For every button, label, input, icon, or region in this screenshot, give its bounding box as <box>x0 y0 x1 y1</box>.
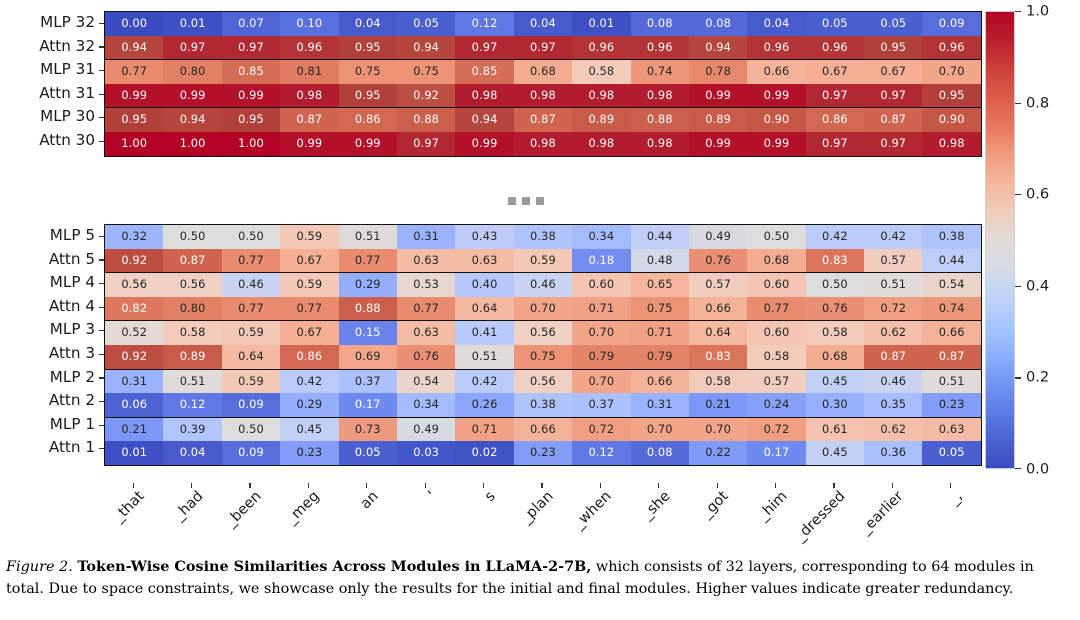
heatmap-cell: 0.97 <box>806 132 864 156</box>
heatmap-cell: 0.99 <box>747 132 805 156</box>
heatmap-cell: 0.59 <box>222 369 280 393</box>
heatmap-cell: 0.51 <box>339 225 397 249</box>
heatmap-cell: 0.50 <box>222 225 280 249</box>
x-axis-tick <box>425 483 426 488</box>
heatmap-cell: 0.48 <box>631 249 689 273</box>
x-axis-tick-label: _that <box>111 489 147 525</box>
y-axis-tick-label: Attn 30 <box>0 129 104 153</box>
caption-title: Token-Wise Cosine Similarities Across Mo… <box>77 558 591 575</box>
heatmap-cell: 0.09 <box>922 12 980 36</box>
heatmap-cell: 0.85 <box>455 60 513 84</box>
heatmap-cell: 0.03 <box>397 441 455 465</box>
y-axis-tick-label: Attn 3 <box>0 342 104 366</box>
heatmap-cell: 0.95 <box>105 108 163 132</box>
heatmap-cell: 0.95 <box>339 36 397 60</box>
heatmap-row: 0.310.510.590.420.370.540.420.560.700.66… <box>105 369 981 393</box>
heatmap-cell: 0.70 <box>922 60 980 84</box>
heatmap-cell: 0.66 <box>747 60 805 84</box>
x-axis-tick-label: _, <box>946 489 965 508</box>
heatmap-cell: 0.42 <box>455 369 513 393</box>
heatmap-cell: 0.34 <box>572 225 630 249</box>
colorbar-tick-label: 0.6 <box>1026 186 1049 203</box>
x-axis-tick <box>892 483 893 488</box>
y-axis-tick-label: MLP 1 <box>0 413 104 437</box>
heatmap-plot-area: MLP 32Attn 32MLP 31Attn 31MLP 30Attn 30 … <box>0 0 1080 545</box>
heatmap-cell: 0.99 <box>339 132 397 156</box>
x-axis-tick <box>308 483 309 488</box>
heatmap-cell: 0.78 <box>689 60 747 84</box>
heatmap-cell: 0.58 <box>572 60 630 84</box>
heatmap-cell: 0.57 <box>864 249 922 273</box>
heatmap-cell: 0.29 <box>280 393 338 417</box>
heatmap-cell: 0.23 <box>922 393 980 417</box>
y-axis-tick-label: Attn 1 <box>0 436 104 460</box>
heatmap-cell: 0.75 <box>397 60 455 84</box>
heatmap-cell: 0.70 <box>689 417 747 441</box>
heatmap-cell: 0.54 <box>922 273 980 297</box>
heatmap-cell: 0.35 <box>864 393 922 417</box>
heatmap-cell: 0.04 <box>514 12 572 36</box>
heatmap-panel-initial-modules: 0.320.500.500.590.510.310.430.380.340.44… <box>104 224 982 466</box>
heatmap-row: 0.940.970.970.960.950.940.970.970.960.96… <box>105 36 981 60</box>
heatmap-cell: 0.99 <box>689 132 747 156</box>
heatmap-cell: 0.09 <box>222 393 280 417</box>
heatmap-table: 0.000.010.070.100.040.050.120.040.010.08… <box>105 12 981 156</box>
heatmap-cell: 0.98 <box>280 84 338 108</box>
heatmap-cell: 0.49 <box>689 225 747 249</box>
heatmap-cell: 0.51 <box>163 369 221 393</box>
x-axis-tick-label: _earlier <box>859 489 907 537</box>
x-axis-tick-label: _she <box>640 489 673 522</box>
caption-figure-number: Figure 2. <box>6 559 73 575</box>
heatmap-row: 1.001.001.000.990.990.970.990.980.980.98… <box>105 132 981 156</box>
y-axis-tick-label: MLP 30 <box>0 105 104 129</box>
heatmap-cell: 0.64 <box>689 321 747 345</box>
heatmap-cell: 0.99 <box>163 84 221 108</box>
x-axis-tick <box>541 483 542 488</box>
heatmap-cell: 0.77 <box>105 60 163 84</box>
heatmap-cell: 0.36 <box>864 441 922 465</box>
heatmap-cell: 0.29 <box>339 273 397 297</box>
y-axis-tick-label: Attn 31 <box>0 82 104 106</box>
heatmap-cell: 0.12 <box>455 12 513 36</box>
colorbar-tick <box>1015 377 1021 378</box>
y-axis-tick-label: Attn 4 <box>0 295 104 319</box>
x-axis-tick-label: _him <box>755 489 789 523</box>
heatmap-cell: 0.63 <box>455 249 513 273</box>
heatmap-row: 0.920.890.640.860.690.760.510.750.790.79… <box>105 345 981 369</box>
heatmap-cell: 0.72 <box>747 417 805 441</box>
heatmap-cell: 0.22 <box>689 441 747 465</box>
heatmap-cell: 0.64 <box>222 345 280 369</box>
heatmap-cell: 0.97 <box>455 36 513 60</box>
heatmap-cell: 0.67 <box>864 60 922 84</box>
heatmap-cell: 0.97 <box>806 84 864 108</box>
heatmap-cell: 0.07 <box>222 12 280 36</box>
heatmap-cell: 0.97 <box>514 36 572 60</box>
heatmap-cell: 0.83 <box>689 345 747 369</box>
heatmap-row: 0.990.990.990.980.950.920.980.980.980.98… <box>105 84 981 108</box>
heatmap-cell: 0.95 <box>922 84 980 108</box>
heatmap-cell: 0.32 <box>105 225 163 249</box>
heatmap-cell: 0.21 <box>689 393 747 417</box>
heatmap-cell: 0.68 <box>514 60 572 84</box>
y-axis-tick-label: Attn 5 <box>0 248 104 272</box>
heatmap-cell: 0.98 <box>514 84 572 108</box>
heatmap-cell: 0.98 <box>631 84 689 108</box>
figure-caption: Figure 2. Token-Wise Cosine Similarities… <box>6 556 1074 601</box>
heatmap-cell: 0.59 <box>280 273 338 297</box>
heatmap-cell: 0.71 <box>455 417 513 441</box>
heatmap-cell: 0.97 <box>397 132 455 156</box>
heatmap-cell: 0.77 <box>280 297 338 321</box>
heatmap-cell: 0.01 <box>572 12 630 36</box>
heatmap-cell: 0.53 <box>397 273 455 297</box>
heatmap-cell: 0.05 <box>922 441 980 465</box>
x-axis-tick-label: ' <box>426 489 439 502</box>
heatmap-cell: 0.51 <box>922 369 980 393</box>
heatmap-cell: 0.96 <box>572 36 630 60</box>
heatmap-cell: 0.71 <box>631 321 689 345</box>
heatmap-cell: 0.97 <box>163 36 221 60</box>
x-axis-tick <box>717 483 718 488</box>
heatmap-row: 0.770.800.850.810.750.750.850.680.580.74… <box>105 60 981 84</box>
heatmap-cell: 0.94 <box>455 108 513 132</box>
heatmap-cell: 1.00 <box>163 132 221 156</box>
heatmap-cell: 0.67 <box>280 249 338 273</box>
heatmap-cell: 0.21 <box>105 417 163 441</box>
heatmap-cell: 0.05 <box>806 12 864 36</box>
colorbar-tick-label: 1.0 <box>1026 3 1049 20</box>
heatmap-cell: 0.70 <box>572 321 630 345</box>
heatmap-cell: 0.95 <box>339 84 397 108</box>
heatmap-cell: 0.40 <box>455 273 513 297</box>
heatmap-cell: 0.50 <box>747 225 805 249</box>
heatmap-cell: 0.17 <box>339 393 397 417</box>
heatmap-cell: 0.96 <box>280 36 338 60</box>
heatmap-cell: 0.57 <box>747 369 805 393</box>
heatmap-cell: 0.05 <box>397 12 455 36</box>
heatmap-row: 0.000.010.070.100.040.050.120.040.010.08… <box>105 12 981 36</box>
heatmap-cell: 0.71 <box>572 297 630 321</box>
heatmap-cell: 0.90 <box>747 108 805 132</box>
x-axis-tick-label: _plan <box>519 489 556 526</box>
heatmap-cell: 0.75 <box>339 60 397 84</box>
heatmap-cell: 0.82 <box>105 297 163 321</box>
heatmap-cell: 0.05 <box>339 441 397 465</box>
heatmap-cell: 0.56 <box>163 273 221 297</box>
heatmap-cell: 0.74 <box>631 60 689 84</box>
heatmap-cell: 0.94 <box>163 108 221 132</box>
heatmap-cell: 0.73 <box>339 417 397 441</box>
heatmap-cell: 0.23 <box>514 441 572 465</box>
heatmap-cell: 0.67 <box>280 321 338 345</box>
heatmap-cell: 0.87 <box>922 345 980 369</box>
heatmap-cell: 1.00 <box>222 132 280 156</box>
heatmap-cell: 0.99 <box>747 84 805 108</box>
heatmap-cell: 0.45 <box>280 417 338 441</box>
heatmap-cell: 0.95 <box>222 108 280 132</box>
heatmap-row: 0.210.390.500.450.730.490.710.660.720.70… <box>105 417 981 441</box>
heatmap-cell: 0.38 <box>514 393 572 417</box>
heatmap-cell: 0.99 <box>280 132 338 156</box>
heatmap-cell: 0.83 <box>806 249 864 273</box>
heatmap-cell: 0.70 <box>514 297 572 321</box>
heatmap-cell: 0.94 <box>689 36 747 60</box>
heatmap-cell: 0.09 <box>222 441 280 465</box>
heatmap-cell: 0.30 <box>806 393 864 417</box>
heatmap-cell: 0.01 <box>105 441 163 465</box>
heatmap-cell: 0.70 <box>631 417 689 441</box>
heatmap-cell: 0.92 <box>397 84 455 108</box>
heatmap-cell: 0.74 <box>922 297 980 321</box>
heatmap-cell: 0.38 <box>922 225 980 249</box>
x-axis-tick <box>600 483 601 488</box>
heatmap-cell: 1.00 <box>105 132 163 156</box>
heatmap-row: 0.820.800.770.770.880.770.640.700.710.75… <box>105 297 981 321</box>
y-axis-tick-label: MLP 4 <box>0 271 104 295</box>
heatmap-cell: 0.88 <box>397 108 455 132</box>
colorbar-tick-label: 0.0 <box>1026 461 1049 478</box>
heatmap-cell: 0.86 <box>280 345 338 369</box>
heatmap-cell: 0.87 <box>864 345 922 369</box>
x-axis-tick-label: _got <box>699 489 731 521</box>
heatmap-cell: 0.65 <box>631 273 689 297</box>
heatmap-cell: 0.46 <box>864 369 922 393</box>
heatmap-cell: 0.88 <box>631 108 689 132</box>
heatmap-row: 0.920.870.770.670.770.630.630.590.180.48… <box>105 249 981 273</box>
heatmap-cell: 0.97 <box>864 84 922 108</box>
heatmap-row: 0.520.580.590.670.150.630.410.560.700.71… <box>105 321 981 345</box>
heatmap-cell: 0.89 <box>163 345 221 369</box>
heatmap-cell: 0.59 <box>280 225 338 249</box>
heatmap-cell: 0.37 <box>339 369 397 393</box>
heatmap-cell: 0.66 <box>514 417 572 441</box>
colorbar-tick <box>1015 286 1021 287</box>
bottom-panel-row-labels: MLP 5Attn 5MLP 4Attn 4MLP 3Attn 3MLP 2At… <box>0 224 104 460</box>
heatmap-cell: 0.77 <box>397 297 455 321</box>
heatmap-cell: 0.70 <box>572 369 630 393</box>
heatmap-cell: 0.58 <box>163 321 221 345</box>
heatmap-cell: 0.98 <box>514 132 572 156</box>
heatmap-cell: 0.42 <box>280 369 338 393</box>
heatmap-cell: 0.66 <box>631 369 689 393</box>
heatmap-cell: 0.85 <box>222 60 280 84</box>
heatmap-cell: 0.98 <box>922 132 980 156</box>
x-axis-tick <box>191 483 192 488</box>
heatmap-table: 0.320.500.500.590.510.310.430.380.340.44… <box>105 225 981 465</box>
colorbar: 0.00.20.40.60.81.0 <box>985 11 1080 469</box>
heatmap-cell: 0.34 <box>397 393 455 417</box>
heatmap-cell: 0.50 <box>806 273 864 297</box>
heatmap-cell: 0.96 <box>922 36 980 60</box>
x-axis-tick-label: _dressed <box>793 489 848 544</box>
heatmap-cell: 0.98 <box>572 132 630 156</box>
heatmap-cell: 0.96 <box>747 36 805 60</box>
ellipsis-dot <box>508 197 516 205</box>
figure-2-root: MLP 32Attn 32MLP 31Attn 31MLP 30Attn 30 … <box>0 0 1080 620</box>
heatmap-cell: 0.66 <box>922 321 980 345</box>
heatmap-cell: 0.77 <box>747 297 805 321</box>
y-axis-tick-label: Attn 32 <box>0 35 104 59</box>
colorbar-tick-label: 0.2 <box>1026 369 1049 386</box>
heatmap-cell: 0.94 <box>105 36 163 60</box>
heatmap-cell: 0.63 <box>397 249 455 273</box>
heatmap-cell: 0.50 <box>222 417 280 441</box>
heatmap-cell: 0.18 <box>572 249 630 273</box>
x-axis-tick-label: _meg <box>285 489 323 527</box>
y-axis-tick-label: MLP 2 <box>0 366 104 390</box>
heatmap-row: 0.010.040.090.230.050.030.020.230.120.08… <box>105 441 981 465</box>
heatmap-cell: 0.04 <box>163 441 221 465</box>
heatmap-cell: 0.06 <box>105 393 163 417</box>
heatmap-row: 0.950.940.950.870.860.880.940.870.890.88… <box>105 108 981 132</box>
top-panel-row-labels: MLP 32Attn 32MLP 31Attn 31MLP 30Attn 30 <box>0 11 104 153</box>
x-axis-tick-label: _when <box>572 489 615 532</box>
heatmap-cell: 0.92 <box>105 249 163 273</box>
colorbar-tick <box>1015 103 1021 104</box>
heatmap-cell: 0.58 <box>806 321 864 345</box>
heatmap-cell: 0.04 <box>339 12 397 36</box>
heatmap-cell: 0.72 <box>572 417 630 441</box>
heatmap-cell: 0.39 <box>163 417 221 441</box>
heatmap-row: 0.060.120.090.290.170.340.260.380.370.31… <box>105 393 981 417</box>
heatmap-cell: 0.10 <box>280 12 338 36</box>
y-axis-tick-label: MLP 31 <box>0 58 104 82</box>
heatmap-cell: 0.31 <box>631 393 689 417</box>
heatmap-cell: 0.46 <box>514 273 572 297</box>
heatmap-cell: 0.67 <box>806 60 864 84</box>
heatmap-cell: 0.89 <box>689 108 747 132</box>
heatmap-cell: 0.51 <box>455 345 513 369</box>
colorbar-tick-label: 0.4 <box>1026 277 1049 294</box>
heatmap-cell: 0.45 <box>806 369 864 393</box>
heatmap-cell: 0.15 <box>339 321 397 345</box>
heatmap-cell: 0.44 <box>631 225 689 249</box>
heatmap-cell: 0.61 <box>806 417 864 441</box>
heatmap-cell: 0.98 <box>455 84 513 108</box>
vertical-ellipsis-separator <box>508 197 544 205</box>
x-axis-tick <box>833 483 834 488</box>
heatmap-cell: 0.88 <box>339 297 397 321</box>
heatmap-cell: 0.38 <box>514 225 572 249</box>
heatmap-cell: 0.54 <box>397 369 455 393</box>
colorbar-tick <box>1015 468 1021 469</box>
heatmap-cell: 0.17 <box>747 441 805 465</box>
heatmap-cell: 0.45 <box>806 441 864 465</box>
x-axis-tick-label: _been <box>223 489 264 530</box>
heatmap-cell: 0.60 <box>572 273 630 297</box>
y-axis-tick-label: MLP 32 <box>0 11 104 35</box>
heatmap-cell: 0.72 <box>864 297 922 321</box>
heatmap-cell: 0.00 <box>105 12 163 36</box>
heatmap-cell: 0.66 <box>689 297 747 321</box>
ellipsis-dot <box>536 197 544 205</box>
heatmap-cell: 0.08 <box>631 12 689 36</box>
heatmap-cell: 0.58 <box>747 345 805 369</box>
heatmap-cell: 0.50 <box>163 225 221 249</box>
heatmap-cell: 0.98 <box>572 84 630 108</box>
heatmap-cell: 0.60 <box>747 321 805 345</box>
heatmap-cell: 0.02 <box>455 441 513 465</box>
y-axis-tick-label: Attn 2 <box>0 389 104 413</box>
heatmap-cell: 0.81 <box>280 60 338 84</box>
heatmap-cell: 0.56 <box>514 369 572 393</box>
heatmap-cell: 0.63 <box>922 417 980 441</box>
x-axis-tick-label: _had <box>171 489 205 523</box>
heatmap-cell: 0.60 <box>747 273 805 297</box>
x-axis-tick <box>658 483 659 488</box>
heatmap-cell: 0.79 <box>631 345 689 369</box>
heatmap-cell: 0.92 <box>105 345 163 369</box>
heatmap-cell: 0.87 <box>514 108 572 132</box>
heatmap-cell: 0.12 <box>572 441 630 465</box>
heatmap-cell: 0.64 <box>455 297 513 321</box>
heatmap-cell: 0.90 <box>922 108 980 132</box>
heatmap-cell: 0.49 <box>397 417 455 441</box>
heatmap-cell: 0.01 <box>163 12 221 36</box>
heatmap-cell: 0.52 <box>105 321 163 345</box>
heatmap-cell: 0.76 <box>806 297 864 321</box>
x-axis-tick <box>133 483 134 488</box>
heatmap-cell: 0.77 <box>339 249 397 273</box>
heatmap-cell: 0.24 <box>747 393 805 417</box>
heatmap-cell: 0.57 <box>689 273 747 297</box>
heatmap-cell: 0.77 <box>222 249 280 273</box>
heatmap-cell: 0.59 <box>222 321 280 345</box>
x-axis-tick <box>950 483 951 488</box>
heatmap-cell: 0.42 <box>864 225 922 249</box>
heatmap-cell: 0.42 <box>806 225 864 249</box>
colorbar-tick <box>1015 11 1021 12</box>
y-axis-tick-label: MLP 3 <box>0 318 104 342</box>
heatmap-cell: 0.44 <box>922 249 980 273</box>
x-axis-tick <box>366 483 367 488</box>
heatmap-cell: 0.96 <box>806 36 864 60</box>
heatmap-cell: 0.41 <box>455 321 513 345</box>
heatmap-cell: 0.04 <box>747 12 805 36</box>
heatmap-cell: 0.37 <box>572 393 630 417</box>
heatmap-cell: 0.86 <box>806 108 864 132</box>
heatmap-row: 0.320.500.500.590.510.310.430.380.340.44… <box>105 225 981 249</box>
heatmap-cell: 0.08 <box>631 441 689 465</box>
heatmap-cell: 0.76 <box>397 345 455 369</box>
heatmap-cell: 0.31 <box>397 225 455 249</box>
heatmap-cell: 0.79 <box>572 345 630 369</box>
heatmap-cell: 0.63 <box>397 321 455 345</box>
heatmap-cell: 0.08 <box>689 12 747 36</box>
y-axis-tick-label: MLP 5 <box>0 224 104 248</box>
heatmap-cell: 0.98 <box>631 132 689 156</box>
x-axis-tick-labels: _that_had_been_megan's_plan_when_she_got… <box>104 489 980 545</box>
heatmap-cell: 0.77 <box>222 297 280 321</box>
heatmap-cell: 0.68 <box>747 249 805 273</box>
heatmap-cell: 0.75 <box>631 297 689 321</box>
colorbar-tick-label: 0.8 <box>1026 94 1049 111</box>
heatmap-panel-final-modules: 0.000.010.070.100.040.050.120.040.010.08… <box>104 11 982 157</box>
heatmap-cell: 0.95 <box>864 36 922 60</box>
heatmap-cell: 0.51 <box>864 273 922 297</box>
heatmap-cell: 0.96 <box>631 36 689 60</box>
heatmap-cell: 0.62 <box>864 417 922 441</box>
x-axis-tick-label: an <box>358 489 381 512</box>
heatmap-cell: 0.76 <box>689 249 747 273</box>
heatmap-cell: 0.75 <box>514 345 572 369</box>
colorbar-gradient <box>985 11 1015 469</box>
heatmap-cell: 0.99 <box>105 84 163 108</box>
heatmap-cell: 0.43 <box>455 225 513 249</box>
heatmap-cell: 0.05 <box>864 12 922 36</box>
